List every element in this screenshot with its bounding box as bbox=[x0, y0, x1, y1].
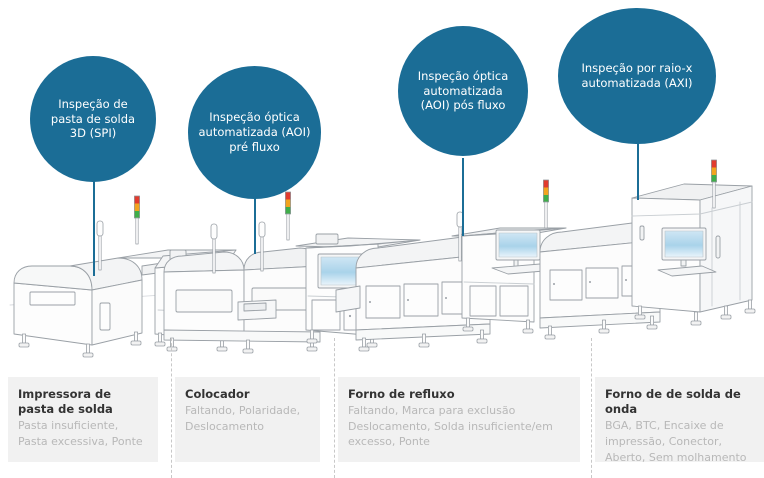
callout-spi-line-3: 3D (SPI) bbox=[51, 126, 135, 141]
callout-axi-line-2: automatizada (AXI) bbox=[581, 76, 692, 91]
stem-spi bbox=[93, 176, 95, 276]
station-card-wave-solder-oven[interactable]: Forno de de solda de onda BGA, BTC, Enca… bbox=[595, 377, 764, 462]
machine-placer bbox=[164, 222, 320, 353]
callout-aoi-pre-line-1: Inspeção óptica bbox=[198, 110, 310, 125]
station-card-solder-paste-printer[interactable]: Impressora de pasta de solda Pasta insuf… bbox=[8, 377, 158, 462]
callout-aoi-post-line-2: automatizada bbox=[418, 84, 509, 99]
station-title: Impressora de pasta de solda bbox=[18, 387, 148, 417]
smt-line-infographic: Inspeção de pasta de solda 3D (SPI) Insp… bbox=[0, 0, 764, 478]
station-divider-3 bbox=[591, 338, 592, 478]
station-defects: BGA, BTC, Encaixe de impressão, Conector… bbox=[605, 418, 754, 465]
station-card-placer[interactable]: Colocador Faltando, Polaridade, Deslocam… bbox=[175, 377, 320, 462]
station-defects: Faltando, Polaridade, Deslocamento bbox=[185, 403, 310, 434]
callout-aoi-pre-line-3: pré fluxo bbox=[198, 140, 310, 155]
callout-axi[interactable]: Inspeção por raio-x automatizada (AXI) bbox=[558, 8, 716, 144]
machine-solder-paste-printer bbox=[14, 221, 142, 357]
machine-axi bbox=[632, 160, 755, 325]
station-divider-1 bbox=[171, 338, 172, 478]
callout-aoi-post[interactable]: Inspeção óptica automatizada (AOI) pós f… bbox=[398, 26, 528, 156]
callout-aoi-post-line-1: Inspeção óptica bbox=[418, 69, 509, 84]
station-title: Forno de refluxo bbox=[348, 387, 570, 402]
station-defects: Pasta insuficiente, Pasta excessiva, Pon… bbox=[18, 418, 148, 449]
station-card-reflow-oven[interactable]: Forno de refluxo Faltando, Marca para ex… bbox=[338, 377, 580, 462]
callout-spi-line-2: pasta de solda bbox=[51, 112, 135, 127]
callout-aoi-pre[interactable]: Inspeção óptica automatizada (AOI) pré f… bbox=[188, 66, 321, 199]
callout-aoi-pre-line-2: automatizada (AOI) bbox=[198, 125, 310, 140]
callout-spi-line-1: Inspeção de bbox=[51, 97, 135, 112]
station-title: Colocador bbox=[185, 387, 310, 402]
station-defects: Faltando, Marca para exclusão Deslocamen… bbox=[348, 403, 570, 450]
callout-spi[interactable]: Inspeção de pasta de solda 3D (SPI) bbox=[30, 56, 156, 182]
callout-axi-line-1: Inspeção por raio-x bbox=[581, 61, 692, 76]
stem-aoi-post bbox=[462, 158, 464, 236]
stem-axi bbox=[637, 138, 639, 200]
station-title: Forno de de solda de onda bbox=[605, 387, 754, 417]
station-divider-2 bbox=[334, 338, 335, 478]
callout-aoi-post-line-3: (AOI) pós fluxo bbox=[418, 98, 509, 113]
stem-aoi-pre bbox=[254, 190, 256, 254]
